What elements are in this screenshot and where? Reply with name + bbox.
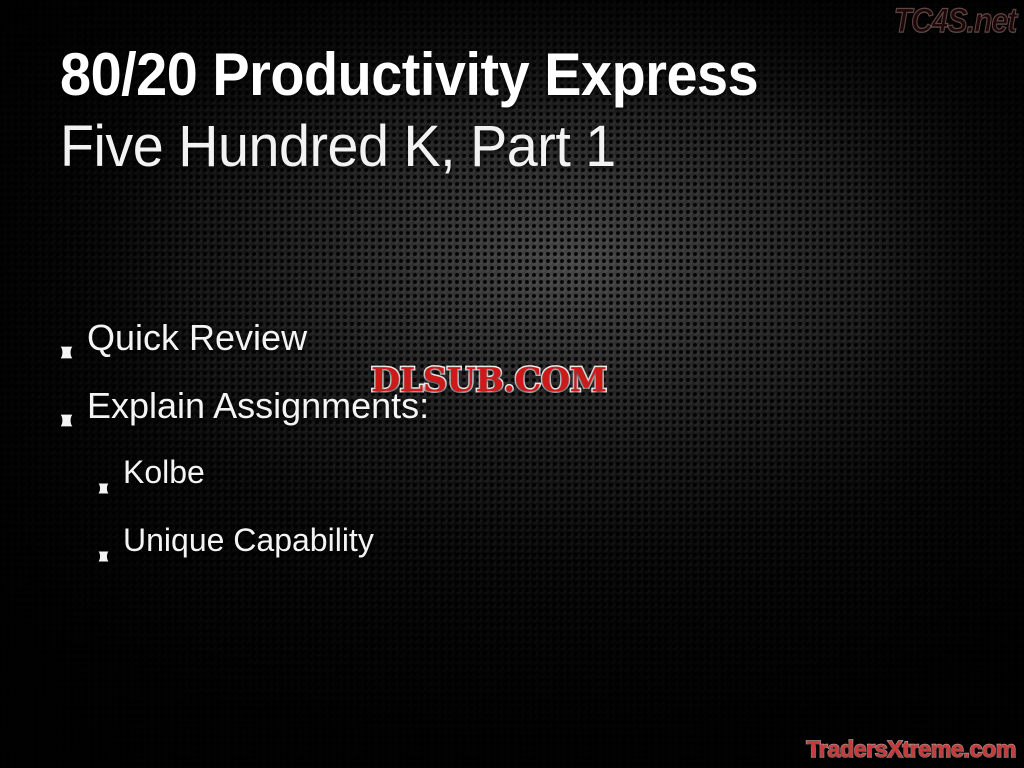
watermark-dlsub: DLSUB.COM <box>371 361 606 398</box>
bowtie-bullet-icon <box>98 551 109 562</box>
list-item: Kolbe <box>60 454 940 522</box>
presentation-slide: 80/20 Productivity Express Five Hundred … <box>0 0 1024 768</box>
slide-header: 80/20 Productivity Express Five Hundred … <box>60 40 960 180</box>
watermark-tc4s: TC4S.net <box>893 2 1016 40</box>
bowtie-bullet-icon <box>98 483 109 494</box>
bowtie-bullet-icon <box>60 414 73 427</box>
list-item: Unique Capability <box>60 522 940 590</box>
bullet-list: Quick Review Explain Assignments: Kolbe <box>60 318 940 590</box>
list-item-label: Kolbe <box>123 454 205 490</box>
bowtie-bullet-icon <box>60 346 73 359</box>
watermark-tradersxtreme: TradersXtreme.com <box>806 736 1016 762</box>
list-item-label: Quick Review <box>87 318 307 358</box>
list-item-label: Unique Capability <box>123 522 374 558</box>
page-title: 80/20 Productivity Express <box>60 40 897 110</box>
page-subtitle: Five Hundred K, Part 1 <box>60 114 924 180</box>
